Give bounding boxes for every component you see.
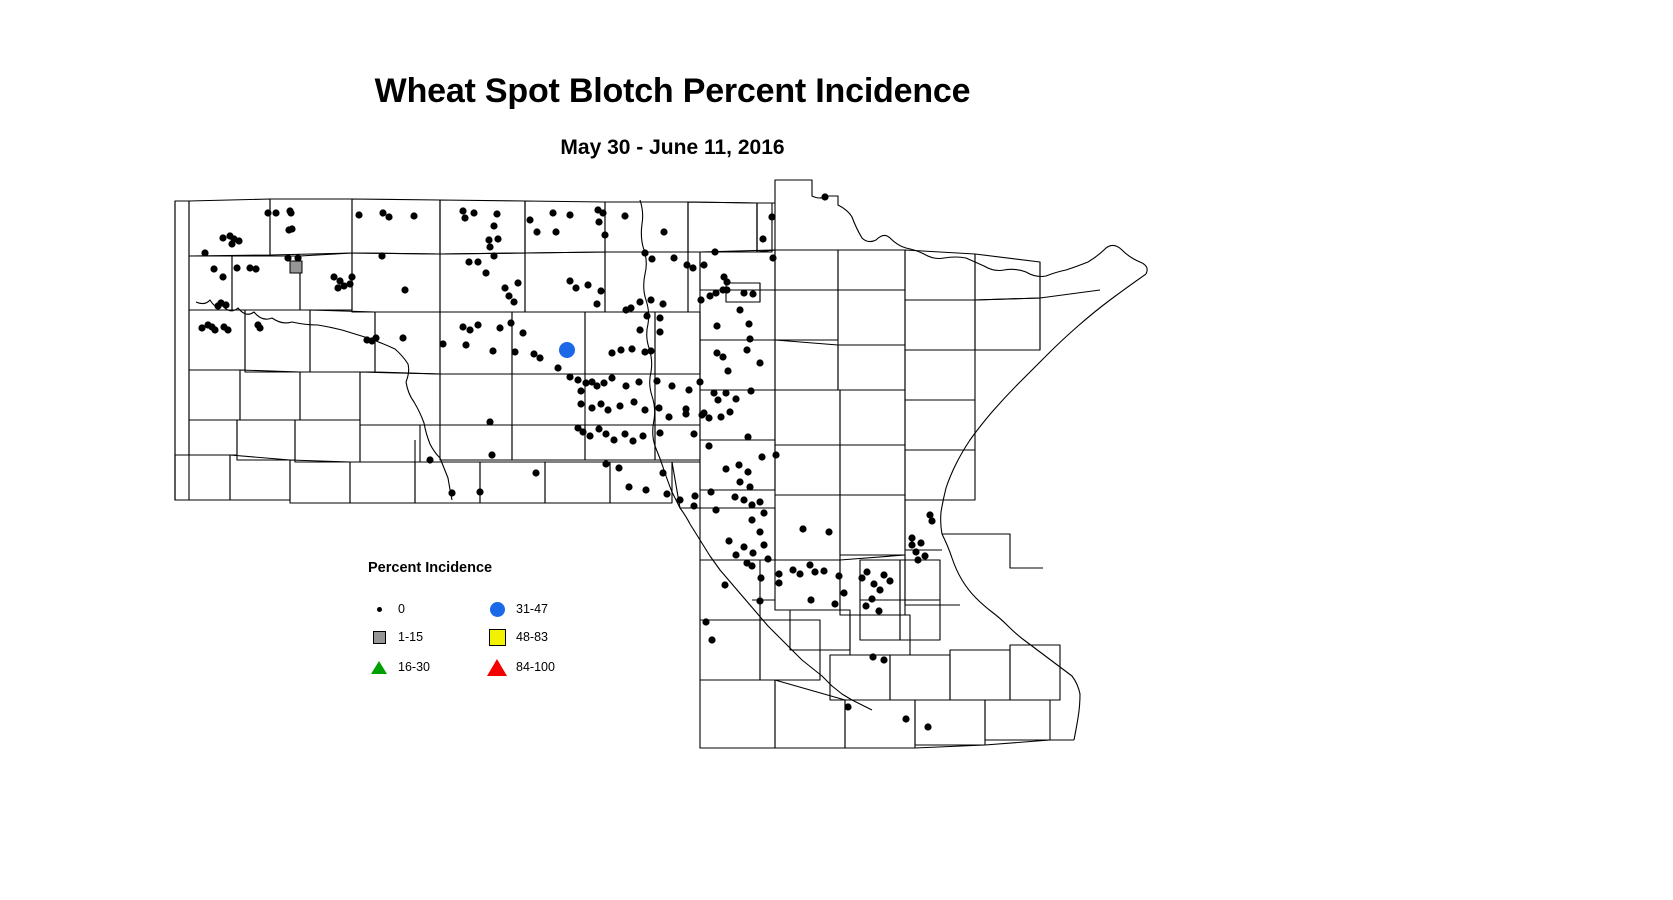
map-marker bbox=[928, 517, 935, 524]
map-marker bbox=[379, 209, 386, 216]
map-marker bbox=[660, 228, 667, 235]
map-marker bbox=[584, 281, 591, 288]
map-marker bbox=[628, 345, 635, 352]
legend-label: 1-15 bbox=[398, 630, 423, 644]
map-marker bbox=[732, 551, 739, 558]
map-marker bbox=[705, 414, 712, 421]
map-marker bbox=[655, 404, 662, 411]
map-marker bbox=[486, 418, 493, 425]
map-marker bbox=[799, 525, 806, 532]
map-marker bbox=[821, 193, 828, 200]
map-marker bbox=[597, 287, 604, 294]
map-marker bbox=[722, 389, 729, 396]
legend-label: 31-47 bbox=[516, 602, 548, 616]
map-marker bbox=[713, 322, 720, 329]
map-marker bbox=[566, 277, 573, 284]
square-gray-icon bbox=[368, 631, 390, 644]
map-marker bbox=[519, 329, 526, 336]
map-marker bbox=[597, 400, 604, 407]
triangle-red-icon bbox=[486, 659, 508, 676]
dot-icon bbox=[368, 607, 390, 612]
square-yellow-icon bbox=[486, 629, 508, 646]
map-marker bbox=[290, 261, 302, 273]
map-marker bbox=[697, 296, 704, 303]
map-marker bbox=[723, 278, 730, 285]
map-marker bbox=[772, 451, 779, 458]
map-marker bbox=[663, 490, 670, 497]
map-marker bbox=[461, 214, 468, 221]
map-marker bbox=[641, 249, 648, 256]
map-marker bbox=[501, 284, 508, 291]
map-marker bbox=[511, 348, 518, 355]
map-marker bbox=[747, 387, 754, 394]
map-marker bbox=[465, 258, 472, 265]
map-marker bbox=[732, 395, 739, 402]
map-marker bbox=[760, 509, 767, 516]
map-marker bbox=[690, 430, 697, 437]
map-marker bbox=[625, 483, 632, 490]
map-marker bbox=[700, 261, 707, 268]
map-marker bbox=[740, 289, 747, 296]
map-marker bbox=[507, 319, 514, 326]
legend-label: 84-100 bbox=[516, 660, 555, 674]
map-marker bbox=[796, 570, 803, 577]
map-marker bbox=[726, 408, 733, 415]
map-marker bbox=[488, 451, 495, 458]
map-marker bbox=[595, 425, 602, 432]
map-marker bbox=[579, 428, 586, 435]
map-marker bbox=[902, 715, 909, 722]
map-marker bbox=[577, 400, 584, 407]
map-marker bbox=[235, 237, 242, 244]
map-marker bbox=[586, 432, 593, 439]
map-marker bbox=[756, 528, 763, 535]
map-marker bbox=[600, 379, 607, 386]
map-marker bbox=[712, 506, 719, 513]
map-marker bbox=[346, 280, 353, 287]
map-marker bbox=[643, 312, 650, 319]
map-marker bbox=[566, 373, 573, 380]
map-marker bbox=[219, 273, 226, 280]
map-marker bbox=[745, 320, 752, 327]
legend-item-1-15[interactable]: 1-15 bbox=[368, 626, 423, 648]
legend-item-16-30[interactable]: 16-30 bbox=[368, 656, 430, 678]
map-marker bbox=[355, 211, 362, 218]
map-marker bbox=[549, 209, 556, 216]
map-marker bbox=[721, 581, 728, 588]
map-marker bbox=[462, 341, 469, 348]
map-marker bbox=[746, 335, 753, 342]
map-marker bbox=[719, 286, 726, 293]
map-marker bbox=[330, 273, 337, 280]
map-marker bbox=[574, 376, 581, 383]
map-marker bbox=[876, 586, 883, 593]
map-marker bbox=[635, 378, 642, 385]
map-marker bbox=[593, 382, 600, 389]
map-marker bbox=[459, 207, 466, 214]
map-marker bbox=[840, 589, 847, 596]
map-marker bbox=[820, 567, 827, 574]
map-marker bbox=[659, 300, 666, 307]
map-marker bbox=[448, 489, 455, 496]
map-marker bbox=[399, 334, 406, 341]
map-marker bbox=[886, 577, 893, 584]
legend-label: 0 bbox=[398, 602, 405, 616]
map-marker bbox=[489, 347, 496, 354]
map-marker bbox=[665, 413, 672, 420]
map-marker bbox=[210, 265, 217, 272]
map-marker bbox=[474, 258, 481, 265]
map-marker bbox=[526, 216, 533, 223]
map-marker bbox=[740, 543, 747, 550]
map-marker bbox=[482, 269, 489, 276]
map-marker bbox=[264, 209, 271, 216]
map-marker bbox=[211, 326, 218, 333]
map-marker bbox=[621, 212, 628, 219]
map-marker bbox=[912, 548, 919, 555]
triangle-green-icon bbox=[368, 661, 390, 674]
map-marker bbox=[705, 442, 712, 449]
map-marker bbox=[198, 324, 205, 331]
map-marker bbox=[621, 430, 628, 437]
map-marker bbox=[601, 231, 608, 238]
map-marker bbox=[536, 354, 543, 361]
map-marker bbox=[724, 367, 731, 374]
map-marker bbox=[725, 537, 732, 544]
map-marker bbox=[710, 389, 717, 396]
map-marker bbox=[593, 300, 600, 307]
map-marker bbox=[744, 468, 751, 475]
map-marker bbox=[789, 566, 796, 573]
map-marker bbox=[252, 265, 259, 272]
map-marker bbox=[552, 228, 559, 235]
map-marker bbox=[736, 306, 743, 313]
map-marker bbox=[582, 379, 589, 386]
map-marker bbox=[641, 348, 648, 355]
map-marker bbox=[875, 607, 882, 614]
map-marker bbox=[629, 437, 636, 444]
map-marker bbox=[510, 298, 517, 305]
map-marker bbox=[748, 501, 755, 508]
county-boundaries bbox=[175, 180, 1147, 748]
map-marker bbox=[476, 488, 483, 495]
map-marker bbox=[676, 496, 683, 503]
map-marker bbox=[474, 321, 481, 328]
map-marker bbox=[811, 568, 818, 575]
map-marker bbox=[748, 516, 755, 523]
map-marker bbox=[691, 492, 698, 499]
map-marker bbox=[863, 568, 870, 575]
map-marker bbox=[908, 534, 915, 541]
map-marker bbox=[668, 382, 675, 389]
map-marker bbox=[706, 292, 713, 299]
map-marker bbox=[756, 597, 763, 604]
map-marker bbox=[908, 541, 915, 548]
map-marker bbox=[496, 324, 503, 331]
legend-item-0[interactable]: 0 bbox=[368, 598, 405, 620]
map-marker bbox=[759, 235, 766, 242]
map-marker bbox=[844, 703, 851, 710]
map-marker bbox=[744, 433, 751, 440]
map-marker bbox=[862, 602, 869, 609]
map-marker bbox=[775, 570, 782, 577]
map-marker bbox=[685, 386, 692, 393]
map-marker bbox=[756, 498, 763, 505]
map-marker bbox=[256, 324, 263, 331]
map-marker bbox=[769, 254, 776, 261]
map-marker bbox=[689, 264, 696, 271]
map-marker bbox=[648, 255, 655, 262]
map-marker bbox=[272, 209, 279, 216]
map-marker bbox=[825, 528, 832, 535]
map-marker bbox=[572, 284, 579, 291]
map-marker bbox=[768, 213, 775, 220]
map-marker bbox=[616, 402, 623, 409]
map-marker bbox=[533, 228, 540, 235]
map-marker bbox=[743, 346, 750, 353]
map-marker bbox=[714, 396, 721, 403]
map-marker bbox=[758, 453, 765, 460]
map-marker bbox=[617, 346, 624, 353]
map-marker bbox=[636, 326, 643, 333]
map-marker bbox=[870, 580, 877, 587]
map-marker bbox=[588, 404, 595, 411]
map-marker bbox=[214, 302, 221, 309]
legend-items: 0 1-15 16-30 31-47 48-83 84-100 bbox=[368, 598, 628, 688]
map-marker bbox=[921, 552, 928, 559]
map-marker bbox=[514, 279, 521, 286]
map-marker bbox=[608, 349, 615, 356]
map-marker bbox=[285, 226, 292, 233]
incidence-map bbox=[0, 0, 1673, 900]
map-marker bbox=[749, 549, 756, 556]
map-marker bbox=[868, 595, 875, 602]
map-marker bbox=[566, 211, 573, 218]
map-marker bbox=[702, 618, 709, 625]
map-marker bbox=[615, 464, 622, 471]
map-marker bbox=[641, 406, 648, 413]
map-marker bbox=[505, 292, 512, 299]
map-marker bbox=[740, 496, 747, 503]
map-marker bbox=[806, 561, 813, 568]
map-marker bbox=[775, 579, 782, 586]
map-marker bbox=[294, 254, 301, 261]
map-marker bbox=[439, 340, 446, 347]
map-marker bbox=[764, 555, 771, 562]
legend-item-84-100[interactable]: 84-100 bbox=[486, 656, 555, 678]
map-marker bbox=[636, 298, 643, 305]
map-marker bbox=[647, 347, 654, 354]
map-marker bbox=[486, 243, 493, 250]
map-marker bbox=[559, 342, 575, 358]
map-marker bbox=[708, 636, 715, 643]
map-marker bbox=[627, 304, 634, 311]
legend-label: 48-83 bbox=[516, 630, 548, 644]
map-marker bbox=[659, 469, 666, 476]
map-marker bbox=[595, 218, 602, 225]
map-marker bbox=[348, 273, 355, 280]
map-marker bbox=[201, 249, 208, 256]
map-marker bbox=[914, 556, 921, 563]
map-marker bbox=[246, 264, 253, 271]
map-marker bbox=[639, 432, 646, 439]
map-marker bbox=[656, 314, 663, 321]
map-marker bbox=[924, 723, 931, 730]
map-marker bbox=[670, 254, 677, 261]
map-marker bbox=[690, 502, 697, 509]
map-marker bbox=[219, 234, 226, 241]
map-marker bbox=[698, 411, 705, 418]
map-marker bbox=[222, 301, 229, 308]
map-marker bbox=[490, 252, 497, 259]
legend-label: 16-30 bbox=[398, 660, 430, 674]
map-marker bbox=[372, 334, 379, 341]
map-marker bbox=[711, 248, 718, 255]
map-marker bbox=[378, 252, 385, 259]
map-marker bbox=[530, 350, 537, 357]
map-marker bbox=[735, 461, 742, 468]
map-marker bbox=[722, 465, 729, 472]
map-marker bbox=[494, 235, 501, 242]
map-marker bbox=[228, 240, 235, 247]
map-marker bbox=[869, 653, 876, 660]
map-marker bbox=[917, 539, 924, 546]
map-marker bbox=[466, 326, 473, 333]
map-marker bbox=[682, 405, 689, 412]
map-marker bbox=[401, 286, 408, 293]
map-marker bbox=[696, 378, 703, 385]
map-marker bbox=[746, 483, 753, 490]
map-marker bbox=[831, 600, 838, 607]
map-marker bbox=[622, 382, 629, 389]
legend: Percent Incidence 0 1-15 16-30 31-47 48-… bbox=[368, 560, 628, 688]
map-marker bbox=[713, 349, 720, 356]
map-marker bbox=[485, 236, 492, 243]
map-marker bbox=[608, 374, 615, 381]
map-marker bbox=[647, 296, 654, 303]
map-marker bbox=[748, 562, 755, 569]
map-marker bbox=[224, 326, 231, 333]
map-marker bbox=[653, 377, 660, 384]
map-marker bbox=[656, 429, 663, 436]
map-marker bbox=[760, 541, 767, 548]
map-marker bbox=[807, 596, 814, 603]
map-marker bbox=[731, 493, 738, 500]
map-marker bbox=[642, 486, 649, 493]
map-marker bbox=[756, 359, 763, 366]
map-marker bbox=[426, 456, 433, 463]
map-marker bbox=[554, 364, 561, 371]
map-marker bbox=[459, 323, 466, 330]
map-marker bbox=[493, 210, 500, 217]
map-marker bbox=[858, 574, 865, 581]
map-marker bbox=[880, 656, 887, 663]
map-marker bbox=[630, 398, 637, 405]
map-marker bbox=[604, 406, 611, 413]
map-marker bbox=[385, 213, 392, 220]
map-marker bbox=[719, 353, 726, 360]
map-marker bbox=[880, 571, 887, 578]
legend-item-48-83[interactable]: 48-83 bbox=[486, 626, 548, 648]
map-marker bbox=[736, 478, 743, 485]
map-marker bbox=[602, 430, 609, 437]
map-marker bbox=[490, 222, 497, 229]
map-marker bbox=[287, 209, 294, 216]
map-page: Wheat Spot Blotch Percent Incidence May … bbox=[0, 0, 1673, 900]
map-marker bbox=[717, 413, 724, 420]
map-marker bbox=[470, 209, 477, 216]
map-marker bbox=[835, 572, 842, 579]
map-marker bbox=[610, 436, 617, 443]
map-marker bbox=[656, 328, 663, 335]
map-marker bbox=[749, 290, 756, 297]
map-marker bbox=[599, 209, 606, 216]
map-marker bbox=[602, 460, 609, 467]
map-marker bbox=[233, 264, 240, 271]
map-marker bbox=[707, 488, 714, 495]
legend-item-31-47[interactable]: 31-47 bbox=[486, 598, 548, 620]
map-marker bbox=[532, 469, 539, 476]
map-marker bbox=[577, 387, 584, 394]
circle-blue-icon bbox=[486, 602, 508, 617]
map-marker bbox=[757, 574, 764, 581]
legend-title: Percent Incidence bbox=[368, 560, 628, 576]
map-marker bbox=[410, 212, 417, 219]
